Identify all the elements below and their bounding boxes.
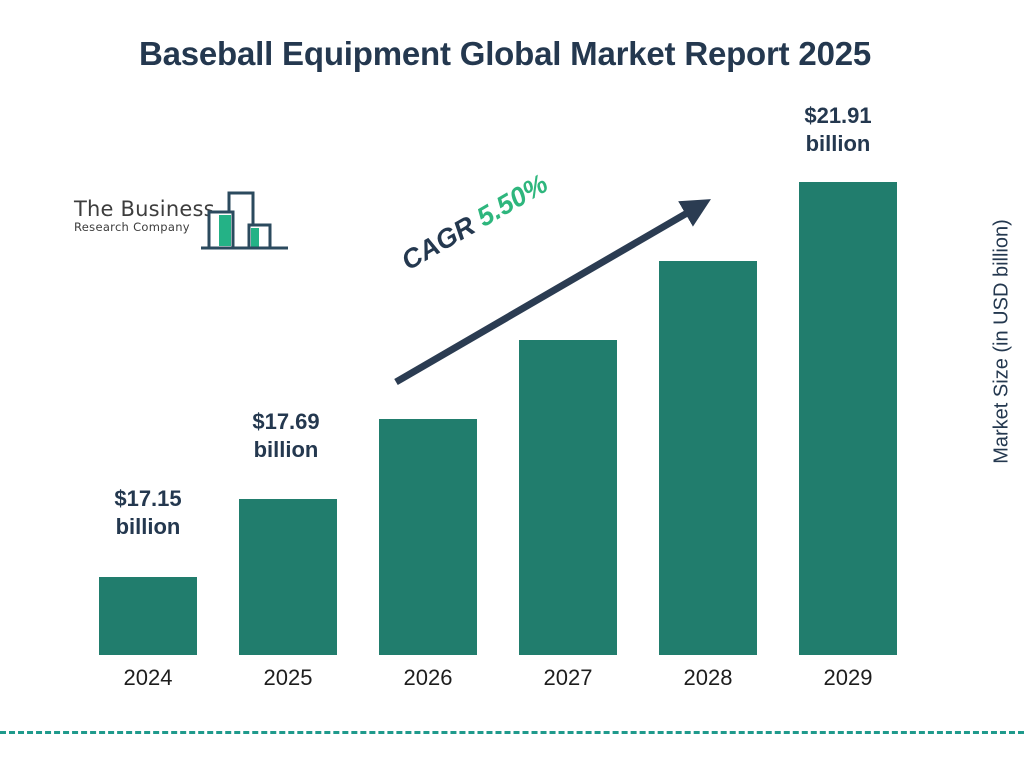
market-report-chart-page: Baseball Equipment Global Market Report …	[0, 0, 1024, 768]
value-label-2025-amount: $17.69	[226, 408, 346, 436]
x-tick-2024: 2024	[88, 665, 208, 691]
cagr-label: CAGR	[396, 210, 480, 276]
x-tick-2026: 2026	[368, 665, 488, 691]
value-label-2029-amount: $21.91	[773, 102, 903, 130]
value-label-2025-unit: billion	[226, 436, 346, 464]
bar-2024	[99, 577, 197, 655]
bar-2026	[379, 419, 477, 655]
value-label-2029-unit: billion	[773, 130, 903, 158]
x-tick-2027: 2027	[508, 665, 628, 691]
footer-divider	[0, 731, 1024, 734]
value-label-2025: $17.69 billion	[226, 408, 346, 464]
x-tick-2028: 2028	[648, 665, 768, 691]
value-label-2024-unit: billion	[88, 513, 208, 541]
bar-2028	[659, 261, 757, 655]
bar-chart-plot-area: $17.15 billion $17.69 billion $21.91 bil…	[0, 0, 1024, 768]
bar-2025	[239, 499, 337, 655]
cagr-annotation: CAGR 5.50%	[396, 168, 553, 277]
bar-2027	[519, 340, 617, 655]
value-label-2029: $21.91 billion	[773, 102, 903, 158]
bar-2029	[799, 182, 897, 655]
x-tick-2029: 2029	[788, 665, 908, 691]
y-axis-title: Market Size (in USD billion)	[991, 192, 1014, 492]
value-label-2024-amount: $17.15	[88, 485, 208, 513]
x-tick-2025: 2025	[228, 665, 348, 691]
value-label-2024: $17.15 billion	[88, 485, 208, 541]
cagr-value: 5.50%	[472, 168, 553, 232]
